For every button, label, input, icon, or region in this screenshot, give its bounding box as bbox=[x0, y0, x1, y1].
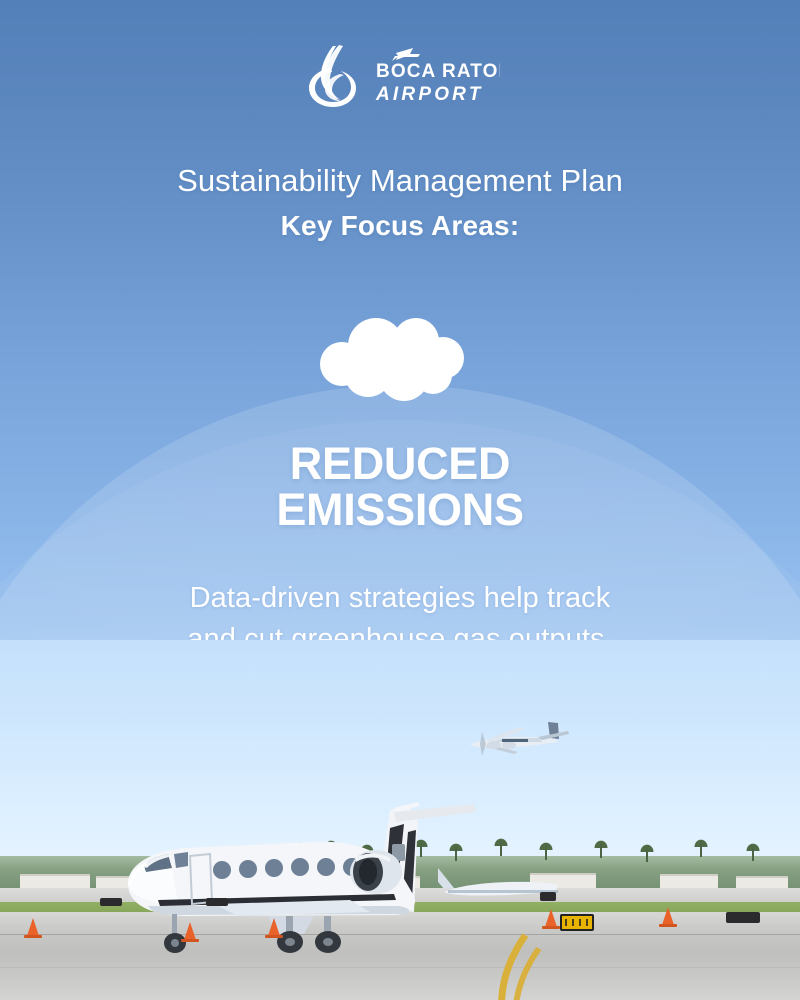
logo-text-airport: AIRPORT bbox=[375, 84, 484, 105]
apron-barrier bbox=[540, 892, 556, 901]
cloud-icon bbox=[312, 316, 488, 402]
feature-description-line1: Data-driven strategies help track bbox=[0, 578, 800, 619]
page-title: Sustainability Management Plan bbox=[0, 163, 800, 199]
brand-logo: BOCA RATON AIRPORT bbox=[0, 44, 800, 110]
logo-text-boca-raton: BOCA RATON bbox=[376, 61, 500, 82]
heading-block: Sustainability Management Plan Key Focus… bbox=[0, 163, 800, 242]
apron-barrier bbox=[100, 898, 122, 906]
feature-icon-wrap bbox=[0, 316, 800, 402]
feature-title: REDUCED EMISSIONS bbox=[0, 441, 800, 534]
apron-barrier bbox=[726, 912, 760, 923]
taxiway-sign bbox=[560, 914, 594, 931]
sustainability-poster: BOCA RATON AIRPORT Sustainability Manage… bbox=[0, 0, 800, 1000]
parked-business-jet bbox=[118, 788, 478, 964]
feature-title-line2: EMISSIONS bbox=[0, 487, 800, 533]
page-subtitle: Key Focus Areas: bbox=[0, 210, 800, 242]
apron-barrier bbox=[206, 898, 228, 906]
flying-turboprop-aircraft-icon bbox=[462, 718, 572, 764]
boca-raton-airport-logo-icon: BOCA RATON AIRPORT bbox=[300, 44, 500, 110]
airport-photo bbox=[0, 640, 800, 1000]
feature-title-line1: REDUCED bbox=[0, 441, 800, 487]
